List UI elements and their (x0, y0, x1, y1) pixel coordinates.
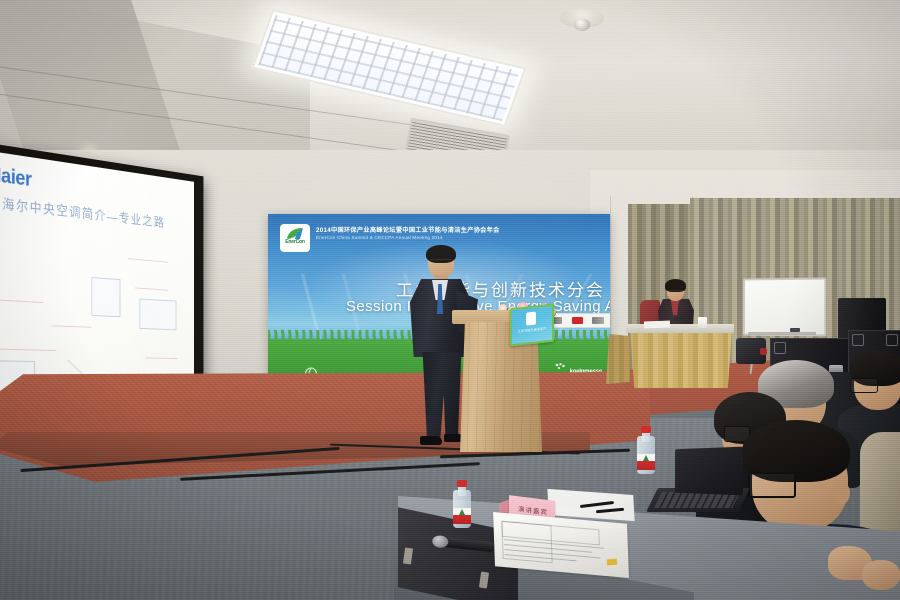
banner-header-cn: 2014中国环保产业高峰论坛暨中国工业节能与清洁生产协会年会 (316, 225, 500, 234)
laptop (648, 448, 744, 514)
slide-subtitle: 海尔中央空调简介—专业之路 (2, 194, 165, 232)
presenter-shoe (420, 436, 442, 445)
sponsor-logo (572, 317, 583, 324)
glasses-icon (430, 259, 452, 265)
head-table-top (626, 324, 734, 333)
slide-line (135, 287, 168, 290)
conference-photo: Haier 海尔中央空调简介—专业之路 EnerCon (0, 0, 900, 600)
smoke-detector-icon (560, 8, 604, 28)
enercon-logo: EnerCon (280, 224, 310, 252)
slide-line (128, 258, 168, 262)
equipment-bag-detail (760, 348, 767, 355)
haier-logo: Haier (0, 163, 31, 192)
lectern-sign-text: 工业节能与清洁生产 (515, 326, 549, 334)
lectern: 工业节能与清洁生产 (452, 310, 550, 452)
koelnmesse-icon (554, 363, 566, 373)
lectern-sign-logo (526, 312, 536, 326)
highlight-tab (607, 559, 617, 566)
slide-line (145, 357, 177, 359)
hand (862, 560, 900, 590)
enercon-logo-text: EnerCon (282, 239, 308, 245)
slide-shape (140, 298, 177, 330)
head-table-skirt (628, 330, 732, 388)
slide-line (0, 349, 56, 351)
paper-cup (698, 317, 707, 328)
water-bottle (453, 480, 471, 528)
glasses-icon (668, 290, 683, 294)
lectern-sign: 工业节能与清洁生产 (510, 304, 554, 347)
slide-shape (91, 277, 120, 317)
head-table (628, 324, 732, 388)
slide-line (51, 325, 91, 328)
sponsor-logo (592, 317, 604, 324)
banner-header-en: EnerCon China Summit & CECCPA Annual Mee… (316, 235, 443, 240)
laptop-screen (675, 447, 743, 496)
whiteboard-eraser (790, 328, 800, 332)
documents (644, 321, 670, 329)
whiteboard-surface (743, 277, 826, 336)
whiteboard-tray (748, 332, 816, 335)
slide-line (0, 299, 43, 303)
